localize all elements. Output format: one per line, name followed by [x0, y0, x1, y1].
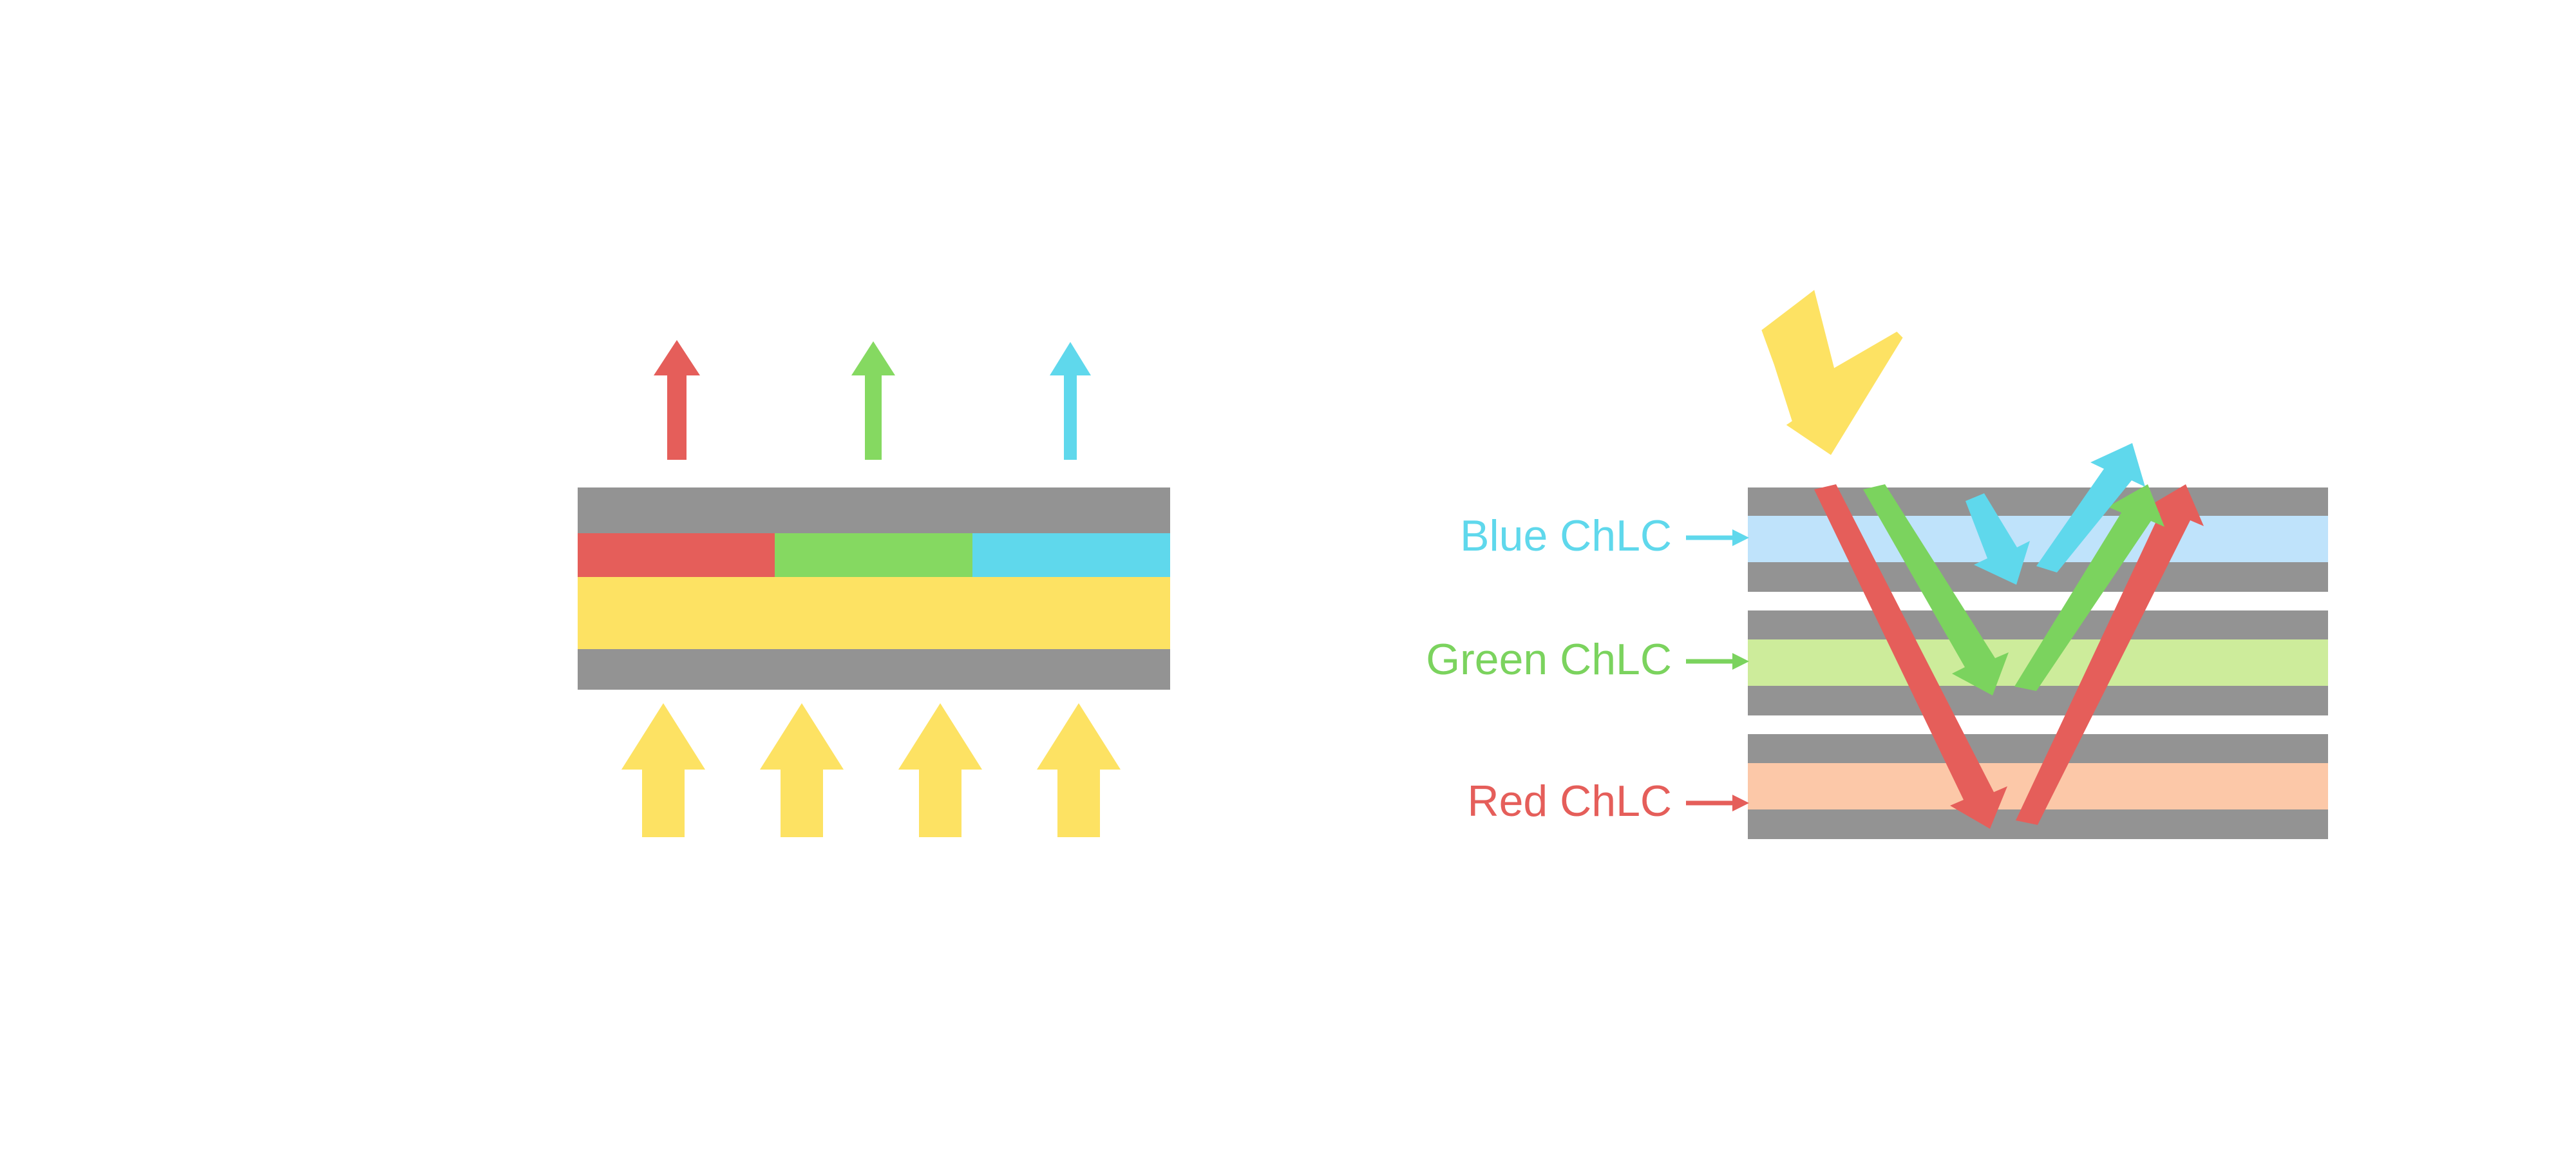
- green-cell-top-electrode: [1748, 610, 2328, 639]
- red-chlc-label: Red ChLC: [1468, 777, 1672, 826]
- red-label-arrow-icon: [1686, 795, 1749, 811]
- red-cell-top-electrode: [1748, 734, 2328, 763]
- blue-chlc-label-group: Blue ChLC: [1460, 511, 1749, 560]
- green-chlc-label: Green ChLC: [1426, 635, 1672, 684]
- green-cell-bottom-electrode: [1748, 686, 2328, 715]
- blue-chlc-label: Blue ChLC: [1460, 511, 1672, 560]
- right-panel-group: Blue ChLC Green ChLC Red ChLC: [0, 0, 2576, 1154]
- red-chlc-label-group: Red ChLC: [1468, 777, 1750, 826]
- blue-cell-bottom-electrode: [1748, 562, 2328, 592]
- green-chlc-label-group: Green ChLC: [1426, 635, 1749, 684]
- blue-label-arrow-icon: [1686, 529, 1749, 546]
- green-label-arrow-icon: [1686, 653, 1749, 670]
- diagram-canvas: Blue ChLC Green ChLC Red ChLC: [0, 0, 2576, 1154]
- incident-white-light-arrow: [1756, 274, 1924, 464]
